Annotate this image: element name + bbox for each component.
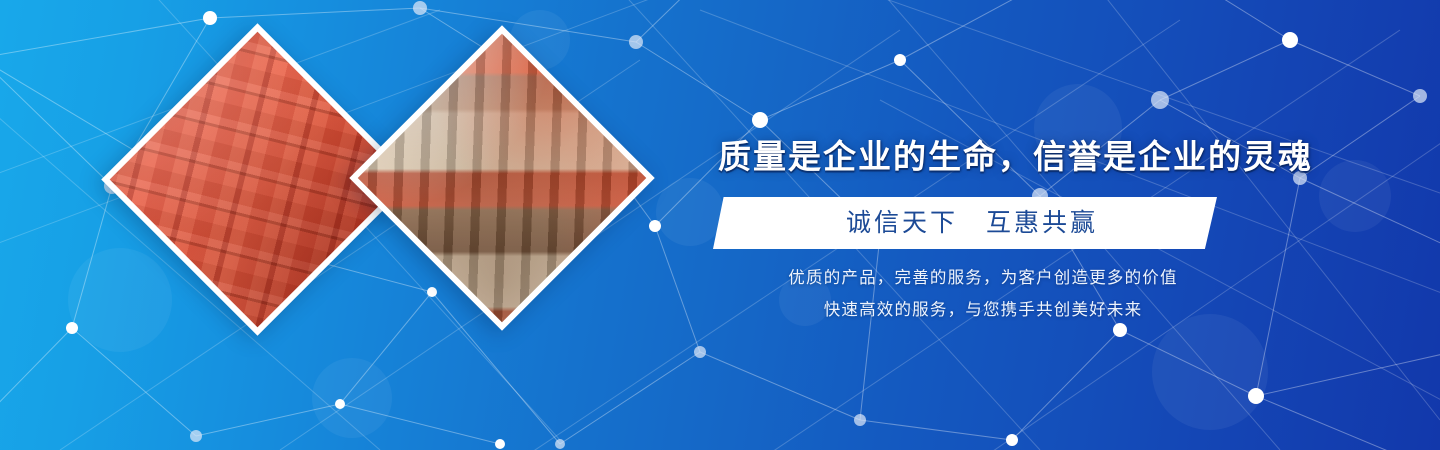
product-photo-diamond-right — [349, 25, 654, 330]
banner-subcopy-line-2: 快速高效的服务，与您携手共创美好未来 — [718, 294, 1248, 326]
banner-subcopy: 优质的产品，完善的服务，为客户创造更多的价值 快速高效的服务，与您携手共创美好未… — [718, 262, 1248, 326]
slogan-ribbon: 诚信天下 互惠共赢 — [713, 197, 1217, 249]
banner-subcopy-line-1: 优质的产品，完善的服务，为客户创造更多的价值 — [718, 262, 1248, 294]
slogan-ribbon-text: 诚信天下 互惠共赢 — [713, 197, 1217, 249]
banner-headline: 质量是企业的生命，信誉是企业的灵魂 — [718, 137, 1248, 177]
promo-banner: 质量是企业的生命，信誉是企业的灵魂 诚信天下 互惠共赢 优质的产品，完善的服务，… — [0, 0, 1440, 450]
warehouse-pallets-shafts-image — [358, 34, 646, 322]
product-photo-right-frame — [358, 34, 646, 322]
